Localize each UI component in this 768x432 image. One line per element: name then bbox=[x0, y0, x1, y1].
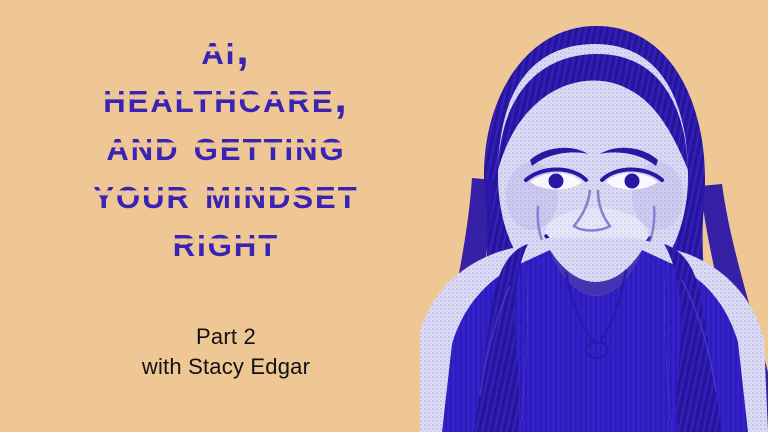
title-line-5: Right Right bbox=[0, 220, 452, 264]
title-card: AI, AI, Healthcare, Healthcare, And Gett… bbox=[0, 0, 768, 432]
guest-label: with Stacy Edgar bbox=[0, 352, 452, 382]
title-line-2: Healthcare, Healthcare, bbox=[0, 76, 452, 120]
title-line-1: AI, AI, bbox=[0, 28, 452, 72]
title-block: AI, AI, Healthcare, Healthcare, And Gett… bbox=[0, 28, 452, 264]
portrait-image bbox=[420, 0, 768, 432]
title-line-3: And Getting And Getting bbox=[0, 124, 452, 168]
subtitle-block: Part 2 with Stacy Edgar bbox=[0, 322, 452, 383]
title-line-4: Your Mindset Your Mindset bbox=[0, 172, 452, 216]
part-label: Part 2 bbox=[0, 322, 452, 352]
